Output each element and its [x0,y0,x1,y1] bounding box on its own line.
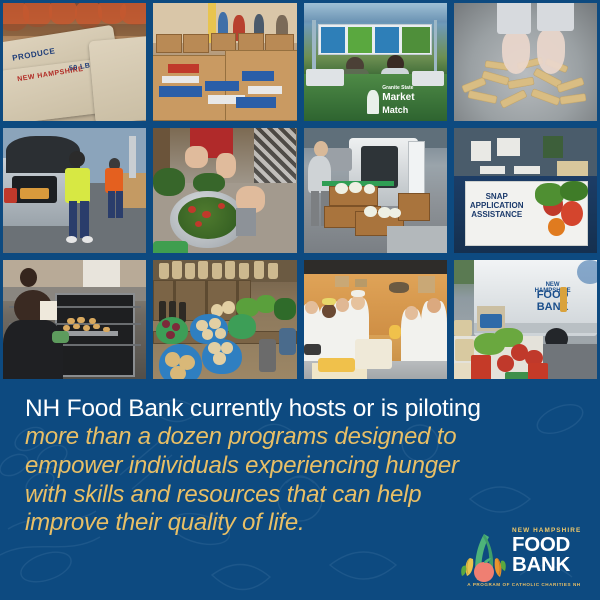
photo-produce-sacks: PRODUCE NEW HAMPSHIRE 50 LB [3,3,146,121]
infographic-canvas: PRODUCE NEW HAMPSHIRE 50 LB [0,0,600,600]
logo-wordmark: NEW HAMPSHIRE FOOD BANK [512,528,588,575]
photo-food-bank-truck: NEW HAMPSHIRE FOOD BANK [454,260,597,396]
produce-stalk-logo-mark [460,528,510,584]
subcopy-line-1: more than a dozen programs designed to [25,423,505,452]
photo-produce-market-display [153,260,296,396]
subcopy-text: more than a dozen programs designed to e… [25,423,505,538]
photo-market-match-tent: Granite State Market Match [304,3,447,121]
photo-van-cauliflower-delivery [304,128,447,253]
headline-text: NH Food Bank currently hosts or is pilot… [25,395,573,424]
snap-sign-text: SNAPAPPLICATIONASSISTANCE [468,193,525,219]
photo-culinary-class-group [304,260,447,396]
message-panel: NH Food Bank currently hosts or is pilot… [0,379,600,600]
subcopy-line-4: improve their quality of life. [25,509,505,538]
logo-word-bank: BANK [512,555,588,575]
photo-salad-prep-class [153,128,296,253]
nh-food-bank-logo: NEW HAMPSHIRE FOOD BANK A PROGRAM OF CAT… [460,526,588,588]
photo-culinary-oven-training [3,260,146,396]
subcopy-line-2: empower individuals experiencing hunger [25,452,505,481]
photo-grid: PRODUCE NEW HAMPSHIRE 50 LB [0,0,600,379]
photo-snap-assistance-table: SNAPAPPLICATIONASSISTANCE [454,128,597,253]
subcopy-line-3: with skills and resources that can help [25,481,505,510]
photo-mobile-pantry-trunk [3,128,146,253]
photo-bread-wedges-prep [454,3,597,121]
photo-volunteer-sorting [153,3,296,121]
logo-tagline: A PROGRAM OF CATHOLIC CHARITIES NH [460,583,588,588]
